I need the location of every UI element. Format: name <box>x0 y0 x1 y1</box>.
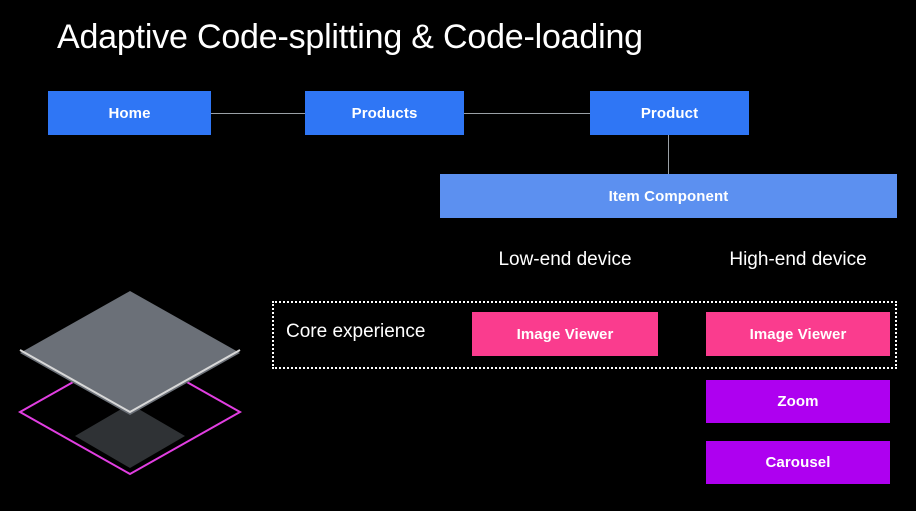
column-header-low-end-device: Low-end device <box>472 249 658 271</box>
flow-node-item-component[interactable]: Item Component <box>440 174 897 218</box>
isometric-layers-graphic <box>10 280 260 490</box>
page-title: Adaptive Code-splitting & Code-loading <box>57 18 643 57</box>
chip-image-viewer-high-end[interactable]: Image Viewer <box>706 312 890 356</box>
connector-home-to-products <box>211 113 305 114</box>
slide-canvas: Adaptive Code-splitting & Code-loading H… <box>0 0 916 511</box>
flow-node-products[interactable]: Products <box>305 91 464 135</box>
chip-zoom[interactable]: Zoom <box>706 380 890 423</box>
chip-image-viewer-low-end[interactable]: Image Viewer <box>472 312 658 356</box>
chip-carousel[interactable]: Carousel <box>706 441 890 484</box>
connector-products-to-product <box>464 113 590 114</box>
connector-product-to-item-component <box>668 135 669 174</box>
flow-node-product[interactable]: Product <box>590 91 749 135</box>
flow-node-home[interactable]: Home <box>48 91 211 135</box>
top-layer-diamond <box>20 291 240 415</box>
core-experience-label: Core experience <box>286 321 425 343</box>
column-header-high-end-device: High-end device <box>706 249 890 271</box>
